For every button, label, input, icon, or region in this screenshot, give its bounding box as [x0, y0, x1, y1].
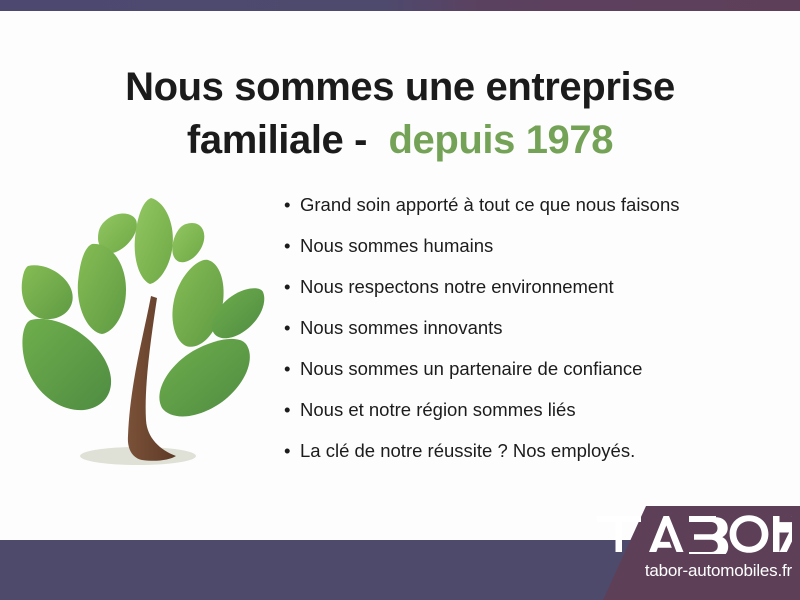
list-item: • Grand soin apporté à tout ce que nous …: [284, 192, 784, 233]
list-item: • Nous sommes un partenaire de confiance: [284, 356, 784, 397]
tree-leaf-9: [159, 339, 249, 417]
heading-line-1: Nous sommes une entreprise: [0, 61, 800, 114]
tree-illustration: [20, 188, 270, 490]
bullet-marker-icon: •: [284, 397, 300, 423]
tabor-logo-wordmark: [597, 514, 792, 554]
bullet-marker-icon: •: [284, 438, 300, 464]
list-item-label: Nous sommes innovants: [300, 315, 784, 341]
list-item: • Nous sommes humains: [284, 233, 784, 274]
top-accent-bar: [0, 0, 800, 11]
tree-leaf-3: [172, 223, 204, 262]
bullet-marker-icon: •: [284, 356, 300, 382]
heading-line-2: familiale - depuis 1978: [0, 114, 800, 167]
bullet-marker-icon: •: [284, 274, 300, 300]
heading-accent-since-1978: depuis 1978: [388, 118, 613, 162]
tree-leaf-5: [22, 265, 73, 319]
list-item: • Nous sommes innovants: [284, 315, 784, 356]
bullet-marker-icon: •: [284, 192, 300, 218]
value-bullet-list: • Grand soin apporté à tout ce que nous …: [284, 192, 784, 479]
bullet-marker-icon: •: [284, 315, 300, 341]
heading-line-2-plain: familiale -: [187, 118, 389, 162]
tree-leaf-4: [78, 244, 126, 334]
list-item: • Nous respectons notre environnement: [284, 274, 784, 315]
page-title: Nous sommes une entreprise familiale - d…: [0, 61, 800, 167]
list-item: • Nous et notre région sommes liés: [284, 397, 784, 438]
list-item-label: Nous respectons notre environnement: [300, 274, 784, 300]
list-item-label: Nous sommes un partenaire de confiance: [300, 356, 784, 382]
tree-leaf-2: [135, 198, 173, 284]
list-item-label: Grand soin apporté à tout ce que nous fa…: [300, 192, 784, 218]
logo-tagline-website: tabor-automobiles.fr: [560, 561, 792, 581]
list-item-label: La clé de notre réussite ? Nos employés.: [300, 438, 784, 464]
list-item-label: Nous sommes humains: [300, 233, 784, 259]
list-item: • La clé de notre réussite ? Nos employé…: [284, 438, 784, 479]
list-item-label: Nous et notre région sommes liés: [300, 397, 784, 423]
bullet-marker-icon: •: [284, 233, 300, 259]
